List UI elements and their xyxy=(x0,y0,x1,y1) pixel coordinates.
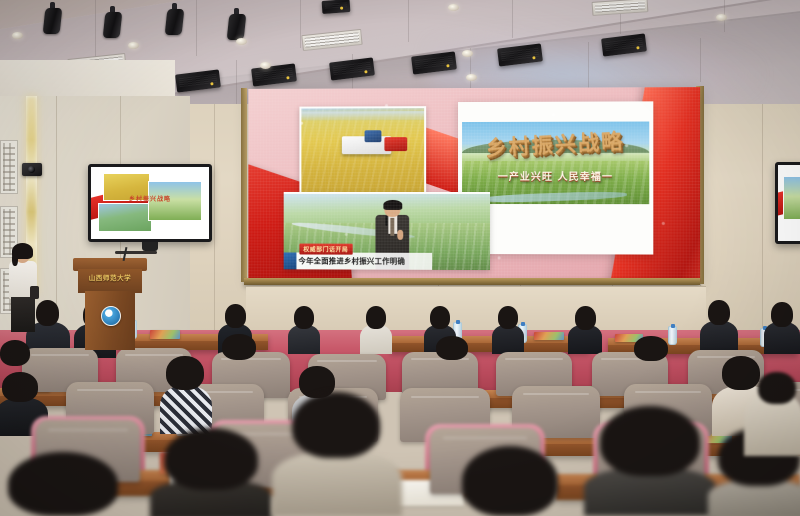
ceiling-seam xyxy=(700,38,701,82)
news-lower-third: 今年全面推进乡村振兴工作明确 xyxy=(284,253,432,270)
attendee xyxy=(162,356,208,434)
attendee xyxy=(164,428,258,516)
attendee xyxy=(634,336,668,361)
podium-sign-text: 山西师范大学 xyxy=(78,272,142,282)
university-emblem-icon xyxy=(101,306,121,326)
microphone-icon xyxy=(385,216,388,226)
stage-spotlight xyxy=(44,2,62,36)
attendee xyxy=(0,340,30,366)
tv-station-logo-icon xyxy=(284,253,297,270)
recessed-downlight xyxy=(260,62,271,69)
recessed-downlight xyxy=(448,4,459,11)
ceiling-seam xyxy=(300,0,301,48)
monitor-left-slide-title: 乡村振兴战略 xyxy=(91,194,209,203)
stage-spotlight xyxy=(104,6,122,40)
ceiling-seam xyxy=(512,0,513,38)
recessed-downlight xyxy=(716,14,727,21)
ceiling-seam xyxy=(588,42,589,90)
attendee xyxy=(764,302,800,354)
photo-combine-harvester xyxy=(299,106,426,196)
water-bottle xyxy=(668,326,677,345)
slide-title: 乡村振兴战略 xyxy=(469,130,642,160)
slide-subtitle: 一产业兴旺 人民幸福一 xyxy=(477,168,634,183)
recessed-downlight xyxy=(236,38,247,45)
photo-news-broadcast: 权威部门话开局 今年全面推进乡村振兴工作明确 xyxy=(284,192,490,270)
attendee xyxy=(700,300,738,354)
slide-key-visual: 乡村振兴战略 一产业兴旺 人民幸福一 xyxy=(462,122,649,205)
attendee xyxy=(8,452,118,516)
ceiling-seam xyxy=(408,0,409,42)
attendee xyxy=(744,372,800,456)
attendee xyxy=(568,306,602,354)
ceiling-seam xyxy=(196,0,197,56)
attendee xyxy=(462,446,558,516)
speaker-podium[interactable]: 山西师范大学 xyxy=(78,258,142,350)
attendee xyxy=(360,306,392,354)
recessed-downlight xyxy=(12,32,23,39)
ceiling-speaker xyxy=(322,0,351,14)
attendee xyxy=(222,334,256,360)
auditorium-photo: 乡村振兴战略 乡村振兴战略 一产业兴旺 人民幸福一 xyxy=(0,0,800,516)
wall-camera xyxy=(22,163,42,176)
wall-monitor-right[interactable] xyxy=(775,162,800,244)
attendee xyxy=(600,406,700,516)
standing-staff-member xyxy=(6,246,40,332)
screen-bottom-trim xyxy=(244,278,700,285)
attendee xyxy=(292,392,380,516)
stage-spotlight xyxy=(166,3,184,37)
attendee xyxy=(288,306,320,354)
main-led-screen[interactable]: 乡村振兴战略 一产业兴旺 人民幸福一 权威部门话开局 xyxy=(248,87,700,282)
brochure xyxy=(534,332,564,340)
brochure xyxy=(150,330,180,339)
wall-monitor-left[interactable]: 乡村振兴战略 xyxy=(88,164,212,242)
news-caption: 今年全面推进乡村振兴工作明确 xyxy=(296,256,405,267)
recessed-downlight xyxy=(462,50,473,57)
stage-spotlight xyxy=(228,8,246,42)
recessed-downlight xyxy=(466,74,477,81)
attendee xyxy=(436,336,468,360)
recessed-downlight xyxy=(128,42,139,49)
attendee xyxy=(492,306,524,354)
screen-frame-left xyxy=(241,88,247,282)
news-tagline: 权威部门话开局 xyxy=(299,244,352,255)
acoustic-grille xyxy=(0,140,18,194)
